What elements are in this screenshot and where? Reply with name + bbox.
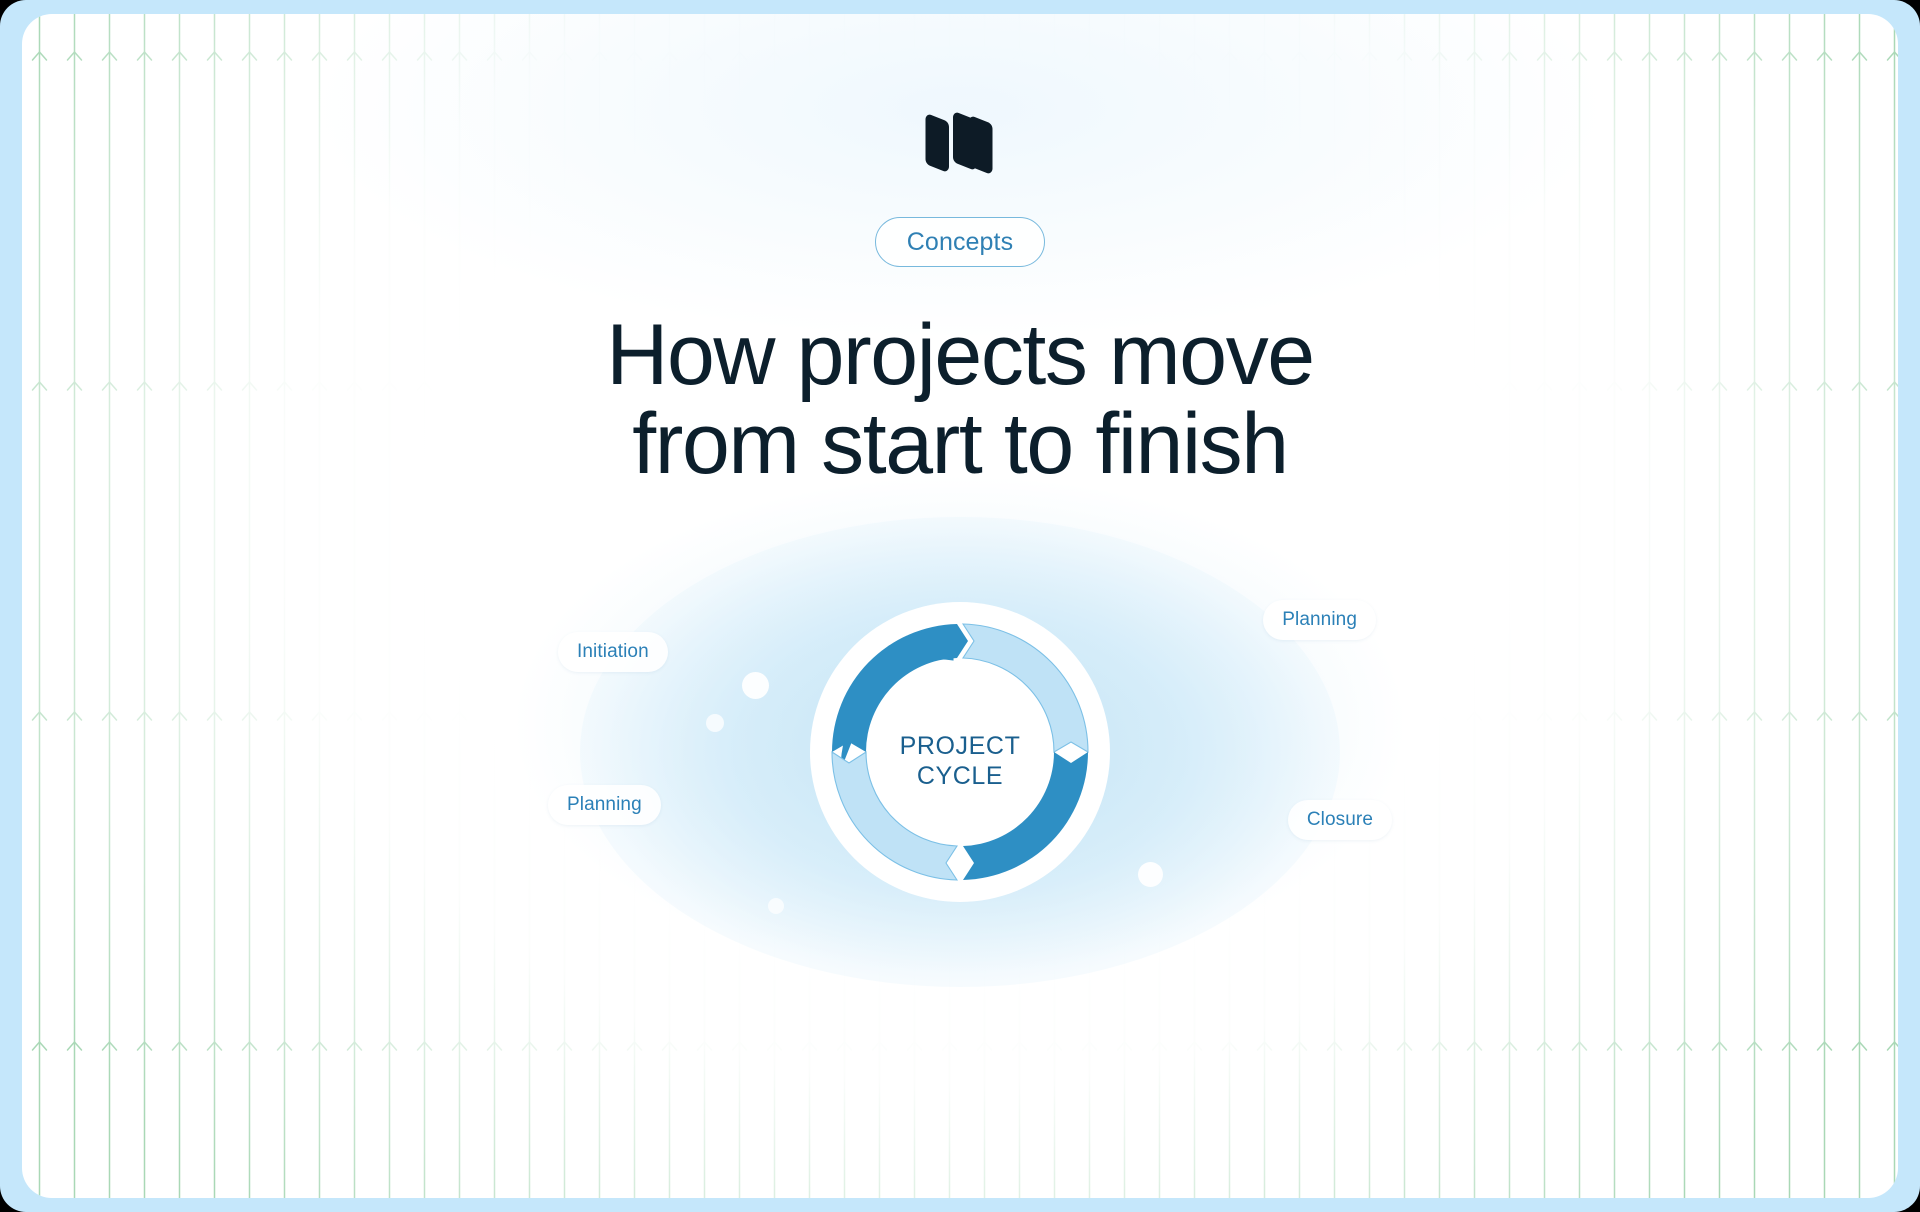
stacked-panels-logo-icon xyxy=(914,111,1006,175)
stage-pill-closure-label: Closure xyxy=(1307,809,1373,831)
concepts-badge-label: Concepts xyxy=(907,228,1013,257)
stage-pill-closure[interactable]: Closure xyxy=(1288,800,1392,840)
decorative-bubble-top-left xyxy=(742,672,769,699)
page-title-line-1: How projects move xyxy=(606,311,1313,400)
stage-pill-initiation[interactable]: Initiation xyxy=(558,632,668,672)
outer-frame: Concepts How projects move from start to… xyxy=(0,0,1920,1212)
stage-pill-planning-top-label: Planning xyxy=(1282,609,1357,631)
decorative-bubble-bottom-right xyxy=(1138,862,1163,887)
content-card: Concepts How projects move from start to… xyxy=(22,14,1898,1198)
decorative-bubble-bottom-left xyxy=(768,898,784,914)
concepts-badge[interactable]: Concepts xyxy=(875,217,1045,267)
stage-pill-planning-bottom-label: Planning xyxy=(567,794,642,816)
project-cycle-diagram: PROJECT CYCLE Initiation Planning Planni… xyxy=(510,542,1410,962)
stage-pill-planning-bottom[interactable]: Planning xyxy=(548,785,661,825)
cycle-center-line-2: CYCLE xyxy=(917,762,1003,790)
page-title: How projects move from start to finish xyxy=(606,311,1313,490)
cycle-center-line-1: PROJECT xyxy=(900,732,1021,760)
decorative-bubble-left xyxy=(706,714,724,732)
cycle-wheel: PROJECT CYCLE xyxy=(810,602,1110,902)
page-title-line-2: from start to finish xyxy=(606,400,1313,489)
stage-pill-initiation-label: Initiation xyxy=(577,641,649,663)
page-content: Concepts How projects move from start to… xyxy=(22,14,1898,1198)
stage-pill-planning-top[interactable]: Planning xyxy=(1263,600,1376,640)
